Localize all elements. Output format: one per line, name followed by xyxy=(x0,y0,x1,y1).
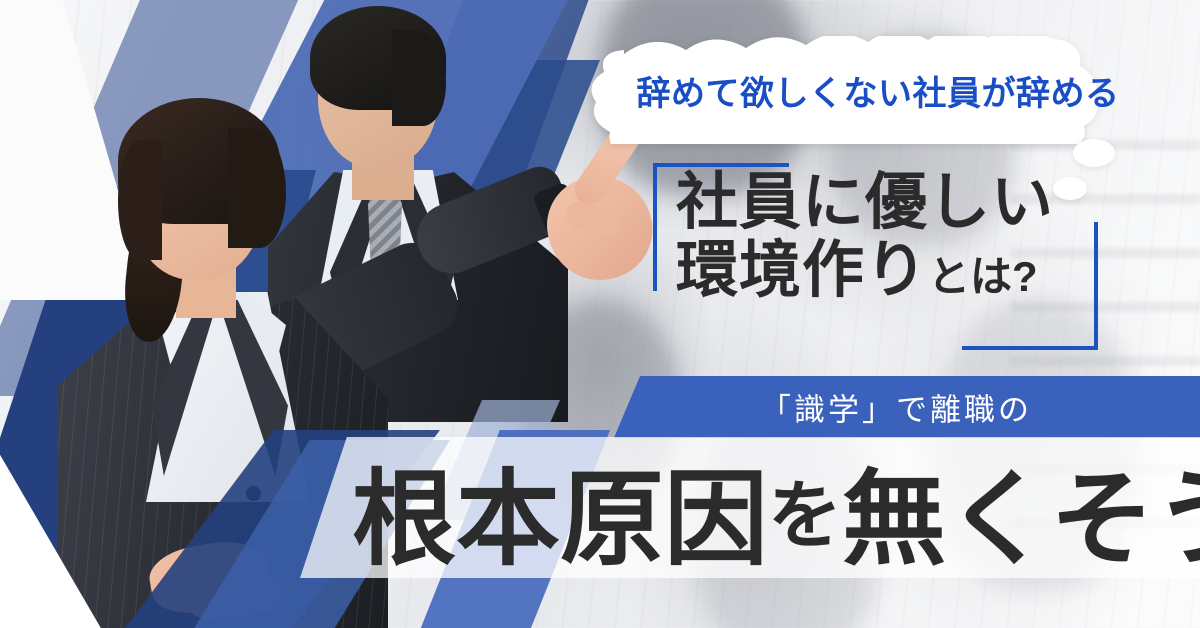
main-headline-part-3: 無くそう xyxy=(842,434,1200,585)
headline-line-2-suffix: とは? xyxy=(928,253,1038,300)
main-headline: 根本原因を無くそう xyxy=(352,446,1200,572)
main-headline-part-2: を xyxy=(768,456,842,563)
hero-banner: 辞めて欲しくない社員が辞める 社員に優しい 環境作りとは? 「識学」で離職の 根… xyxy=(0,0,1200,628)
headline-block: 社員に優しい 環境作りとは? xyxy=(676,172,1096,302)
headline-line-1: 社員に優しい xyxy=(676,172,1096,234)
sub-banner-text: 「識学」で離職の xyxy=(760,385,1032,430)
main-headline-part-1: 根本原因 xyxy=(352,434,768,585)
businesswoman-hair-side-left xyxy=(118,140,162,260)
headline-line-2-main: 環境作り xyxy=(676,236,928,305)
thought-bubble-text: 辞めて欲しくない社員が辞める xyxy=(562,36,1186,144)
sub-banner: 「識学」で離職の xyxy=(592,376,1200,438)
thought-bubble-tail-large xyxy=(1073,139,1115,167)
headline-line-2: 環境作りとは? xyxy=(676,240,1096,302)
thought-bubble: 辞めて欲しくない社員が辞める xyxy=(562,36,1186,144)
